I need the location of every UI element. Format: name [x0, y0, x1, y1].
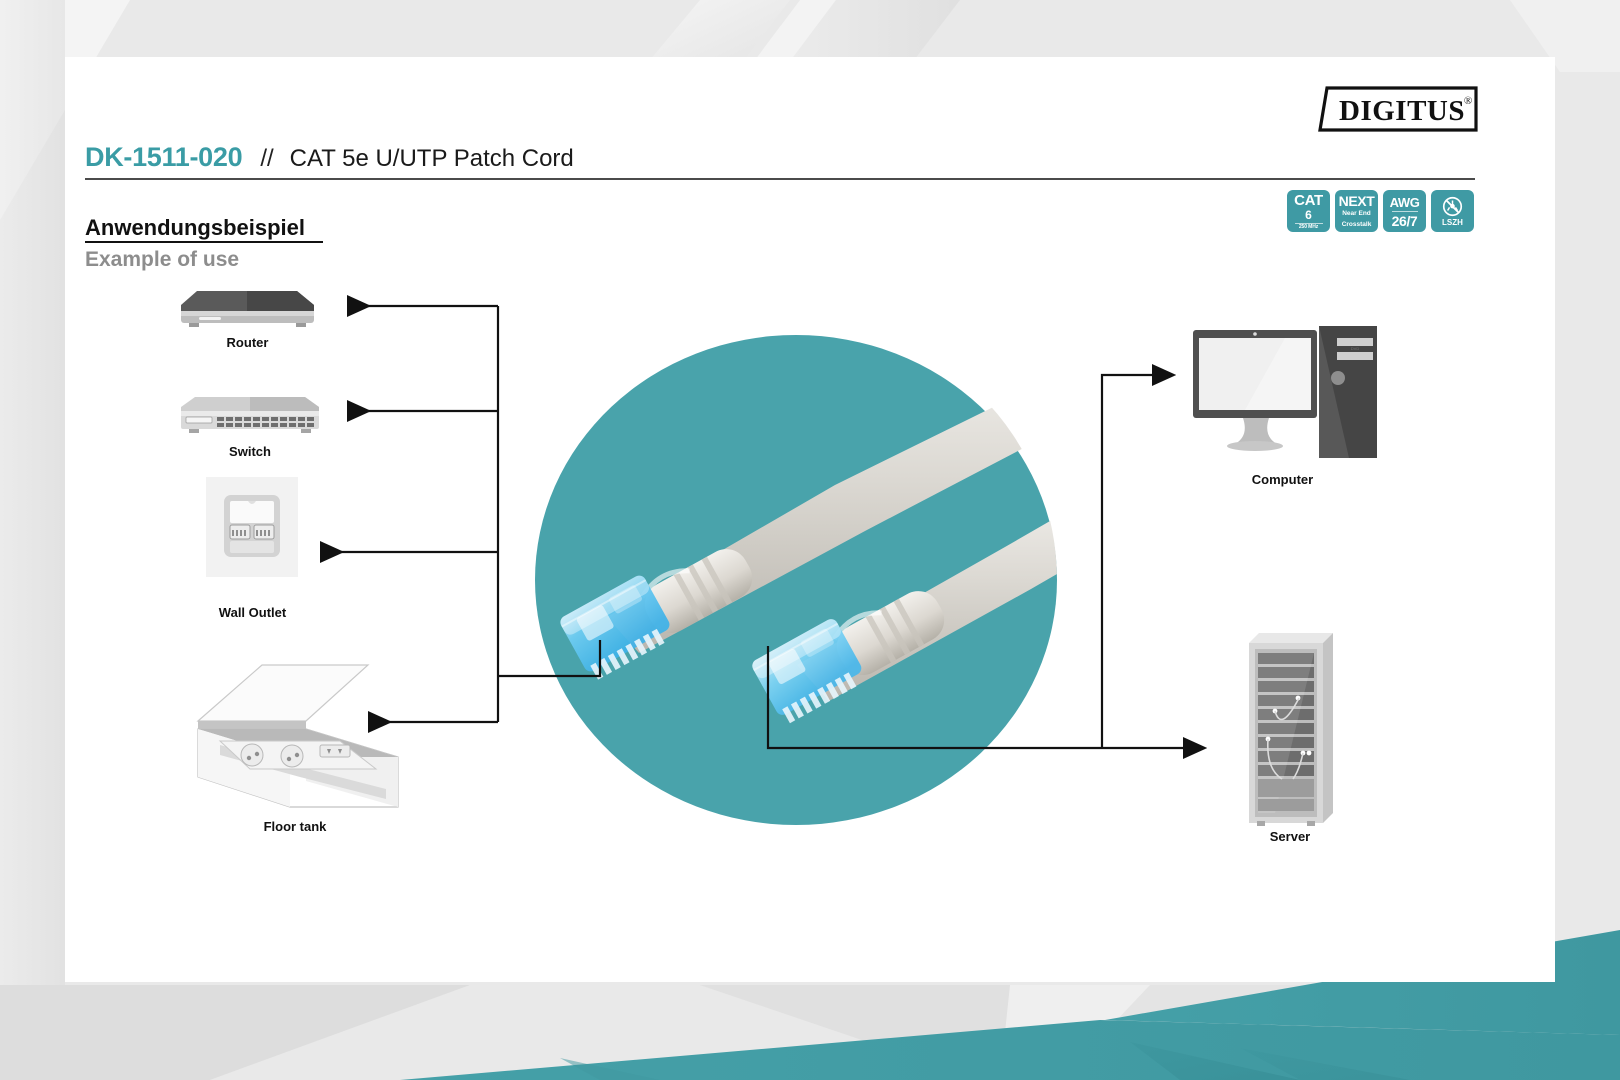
badge-awg-number: 26/7 — [1392, 214, 1418, 228]
badge-lszh-title: LSZH — [1442, 219, 1463, 227]
product-name: CAT 5e U/UTP Patch Cord — [290, 145, 574, 173]
header-rule — [85, 178, 1475, 180]
digitus-logo-text: DIGITUS — [1339, 95, 1465, 127]
title-separator: // — [260, 145, 273, 173]
badge-cat-freq: 250 MHz — [1299, 225, 1318, 230]
no-halogen-icon — [1442, 196, 1463, 217]
section-title-de: Anwendungsbeispiel — [85, 215, 305, 241]
badge-awg: AWG 26/7 — [1383, 190, 1426, 232]
badge-cat-number: 6 — [1305, 209, 1312, 221]
digitus-logo: DIGITUS ® — [1318, 86, 1478, 134]
section-title-en: Example of use — [85, 248, 239, 272]
slide-canvas: DK-1511-020 // CAT 5e U/UTP Patch Cord D… — [0, 0, 1620, 1080]
badge-next-sub1: Near End — [1342, 210, 1371, 218]
section-underline — [85, 241, 323, 243]
product-sku: DK-1511-020 — [85, 142, 242, 173]
badge-next: NEXT Near End Crosstalk — [1335, 190, 1378, 232]
registered-mark: ® — [1464, 95, 1472, 107]
badge-next-title: NEXT — [1339, 194, 1375, 208]
badge-next-sub2: Crosstalk — [1342, 221, 1372, 229]
badge-divider — [1392, 211, 1418, 212]
spec-badges: CAT 6 250 MHz NEXT Near End Crosstalk AW… — [1287, 190, 1474, 232]
digitus-logo-svg: DIGITUS ® — [1318, 86, 1478, 134]
badge-lszh: LSZH — [1431, 190, 1474, 232]
page-title: DK-1511-020 // CAT 5e U/UTP Patch Cord — [85, 142, 574, 173]
badge-cat6: CAT 6 250 MHz — [1287, 190, 1330, 232]
badge-cat-title: CAT — [1294, 193, 1323, 208]
badge-awg-title: AWG — [1390, 196, 1420, 209]
